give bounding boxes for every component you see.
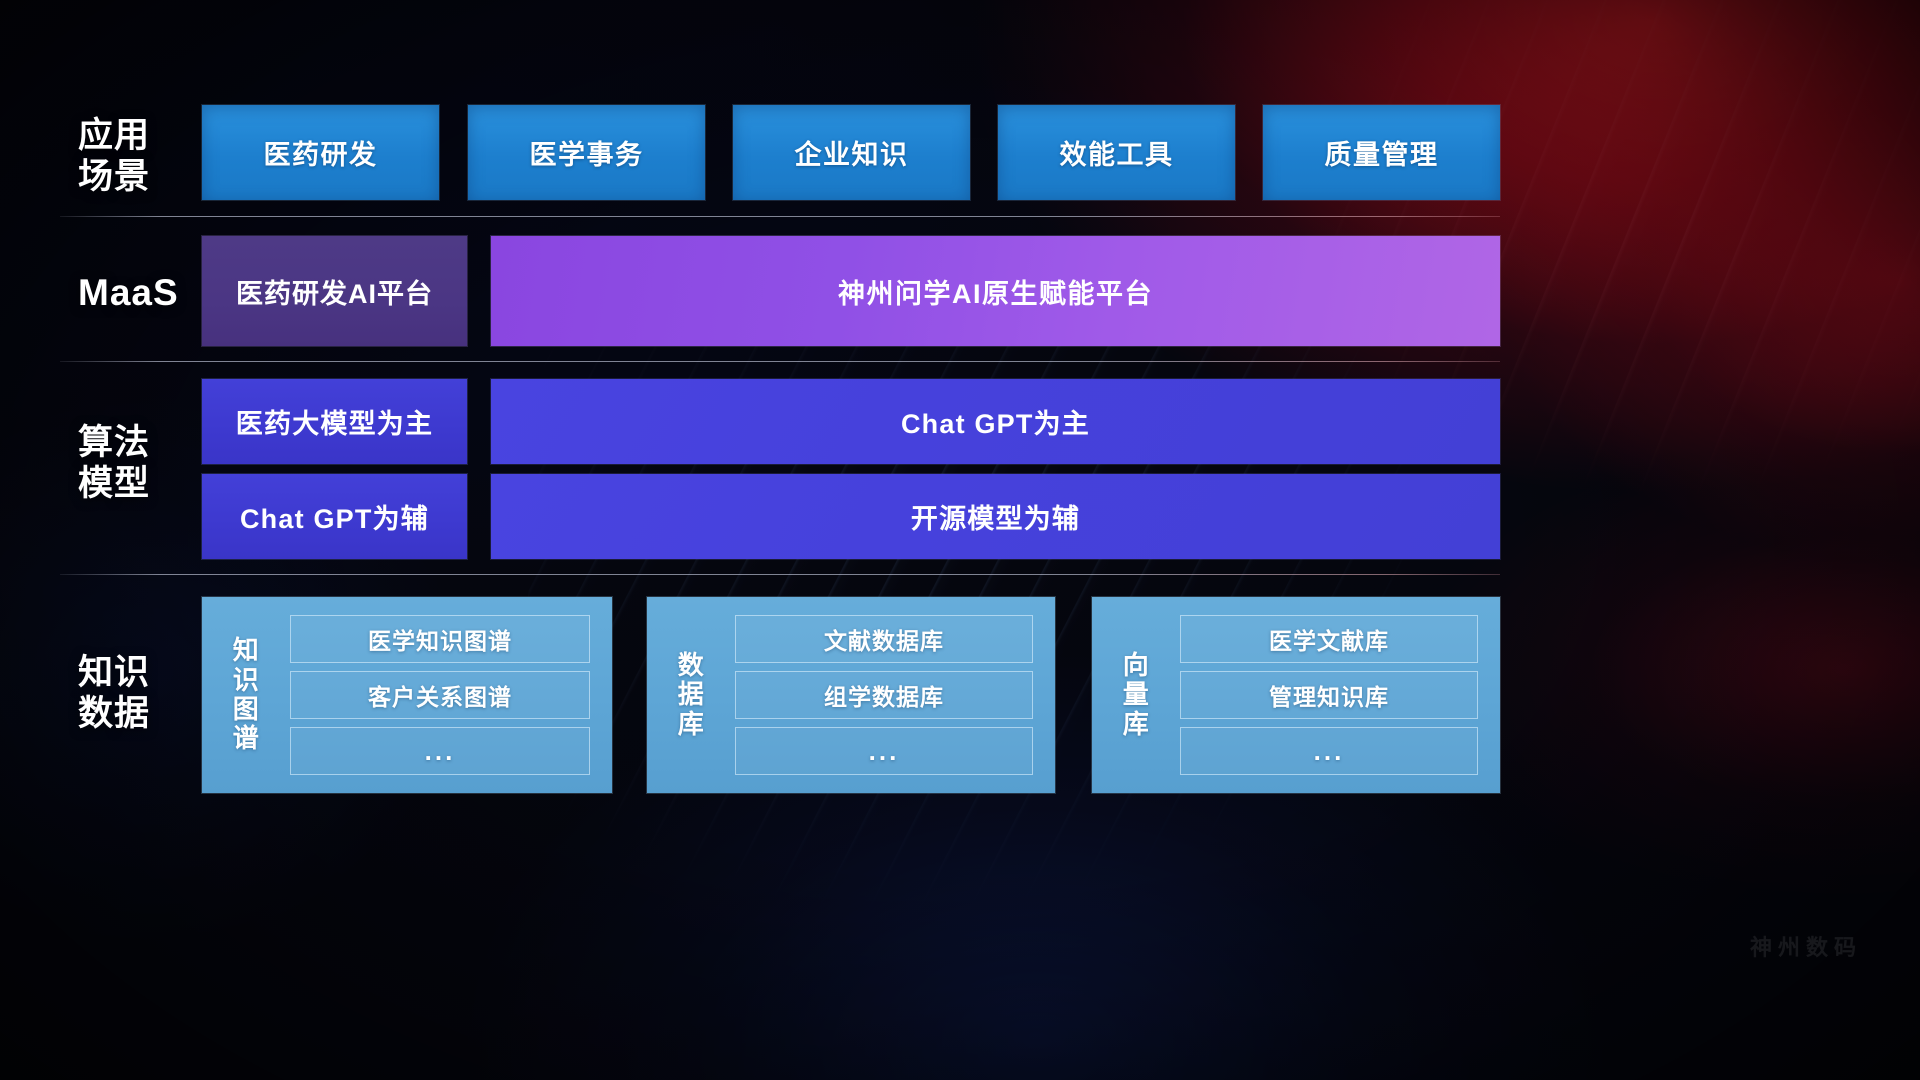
knowledge-card-graph-label: 知 识 图 谱: [202, 636, 290, 754]
row-label-scenario-line-2: 场景: [78, 157, 210, 198]
knowledge-card-database-label: 数 据 库: [647, 651, 735, 739]
knowledge-card-graph[interactable]: 知 识 图 谱 医学知识图谱 客户关系图谱 ...: [202, 597, 612, 793]
maas-platform-left[interactable]: 医药研发AI平台: [202, 236, 467, 346]
knowledge-item-literature-db[interactable]: 文献数据库: [735, 615, 1033, 663]
row-label-knowledge: 知识 数据: [78, 653, 210, 734]
knowledge-card-vector-label: 向 量 库: [1092, 651, 1180, 739]
knowledge-item-vector-more[interactable]: ...: [1180, 727, 1478, 775]
scenario-tile-3-label: 企业知识: [795, 133, 909, 172]
algorithm-bar-2-right[interactable]: 开源模型为辅: [491, 474, 1500, 559]
row-label-scenario: 应用 场景: [78, 116, 210, 197]
row-label-maas-line-1: MaaS: [78, 272, 210, 315]
scenario-tile-5[interactable]: 质量管理: [1263, 105, 1500, 200]
row-label-scenario-line-1: 应用: [78, 116, 210, 157]
scenario-tile-4[interactable]: 效能工具: [998, 105, 1235, 200]
algorithm-bar-2-left-label: Chat GPT为辅: [240, 497, 429, 536]
knowledge-item-medical-graph[interactable]: 医学知识图谱: [290, 615, 590, 663]
knowledge-item-omics-db[interactable]: 组学数据库: [735, 671, 1033, 719]
knowledge-card-vector-items: 医学文献库 管理知识库 ...: [1180, 615, 1500, 775]
divider-algorithm-knowledge: [60, 574, 1500, 575]
divider-maas-algorithm: [60, 361, 1500, 362]
knowledge-card-graph-label-line-1: 知: [202, 636, 290, 665]
algorithm-bar-1-right-label: Chat GPT为主: [901, 402, 1090, 441]
knowledge-item-graph-more[interactable]: ...: [290, 727, 590, 775]
row-label-algorithm: 算法 模型: [78, 423, 210, 504]
knowledge-card-vector-label-line-2: 量: [1092, 680, 1180, 709]
knowledge-item-management-kb[interactable]: 管理知识库: [1180, 671, 1478, 719]
scenario-tile-3[interactable]: 企业知识: [733, 105, 970, 200]
divider-scenario-maas: [60, 216, 1500, 217]
row-label-algorithm-line-2: 模型: [78, 464, 210, 505]
algorithm-bar-1-right[interactable]: Chat GPT为主: [491, 379, 1500, 464]
knowledge-card-vector[interactable]: 向 量 库 医学文献库 管理知识库 ...: [1092, 597, 1500, 793]
maas-platform-left-label: 医药研发AI平台: [236, 272, 433, 311]
row-label-knowledge-line-1: 知识: [78, 653, 210, 694]
knowledge-card-vector-label-line-1: 向: [1092, 651, 1180, 680]
maas-platform-right-label: 神州问学AI原生赋能平台: [838, 272, 1153, 311]
algorithm-bar-2-right-label: 开源模型为辅: [911, 497, 1080, 536]
watermark: 神州数码: [1750, 930, 1862, 962]
scenario-tile-1-label: 医药研发: [264, 133, 378, 172]
scenario-tile-5-label: 质量管理: [1325, 133, 1439, 172]
scenario-tile-2-label: 医学事务: [530, 133, 644, 172]
knowledge-card-graph-label-line-2: 识: [202, 666, 290, 695]
algorithm-bar-1-left-label: 医药大模型为主: [236, 402, 433, 441]
knowledge-item-database-more[interactable]: ...: [735, 727, 1033, 775]
row-label-algorithm-line-1: 算法: [78, 423, 210, 464]
knowledge-item-customer-graph[interactable]: 客户关系图谱: [290, 671, 590, 719]
knowledge-card-database-label-line-1: 数: [647, 651, 735, 680]
algorithm-bar-1-left[interactable]: 医药大模型为主: [202, 379, 467, 464]
knowledge-card-database-label-line-2: 据: [647, 680, 735, 709]
knowledge-card-graph-items: 医学知识图谱 客户关系图谱 ...: [290, 615, 612, 775]
row-label-knowledge-line-2: 数据: [78, 694, 210, 735]
algorithm-bar-2-left[interactable]: Chat GPT为辅: [202, 474, 467, 559]
knowledge-item-medical-literature[interactable]: 医学文献库: [1180, 615, 1478, 663]
scenario-tile-1[interactable]: 医药研发: [202, 105, 439, 200]
row-label-maas: MaaS: [78, 272, 210, 315]
knowledge-card-graph-label-line-4: 谱: [202, 724, 290, 753]
maas-platform-right[interactable]: 神州问学AI原生赋能平台: [491, 236, 1500, 346]
scenario-tile-2[interactable]: 医学事务: [468, 105, 705, 200]
knowledge-card-vector-label-line-3: 库: [1092, 710, 1180, 739]
scenario-tile-4-label: 效能工具: [1060, 133, 1174, 172]
knowledge-card-database-label-line-3: 库: [647, 710, 735, 739]
knowledge-card-database[interactable]: 数 据 库 文献数据库 组学数据库 ...: [647, 597, 1055, 793]
architecture-diagram: 应用 场景 医药研发 医学事务 企业知识 效能工具 质量管理 MaaS 医药研发…: [0, 0, 1920, 1080]
knowledge-card-database-items: 文献数据库 组学数据库 ...: [735, 615, 1055, 775]
knowledge-card-graph-label-line-3: 图: [202, 695, 290, 724]
